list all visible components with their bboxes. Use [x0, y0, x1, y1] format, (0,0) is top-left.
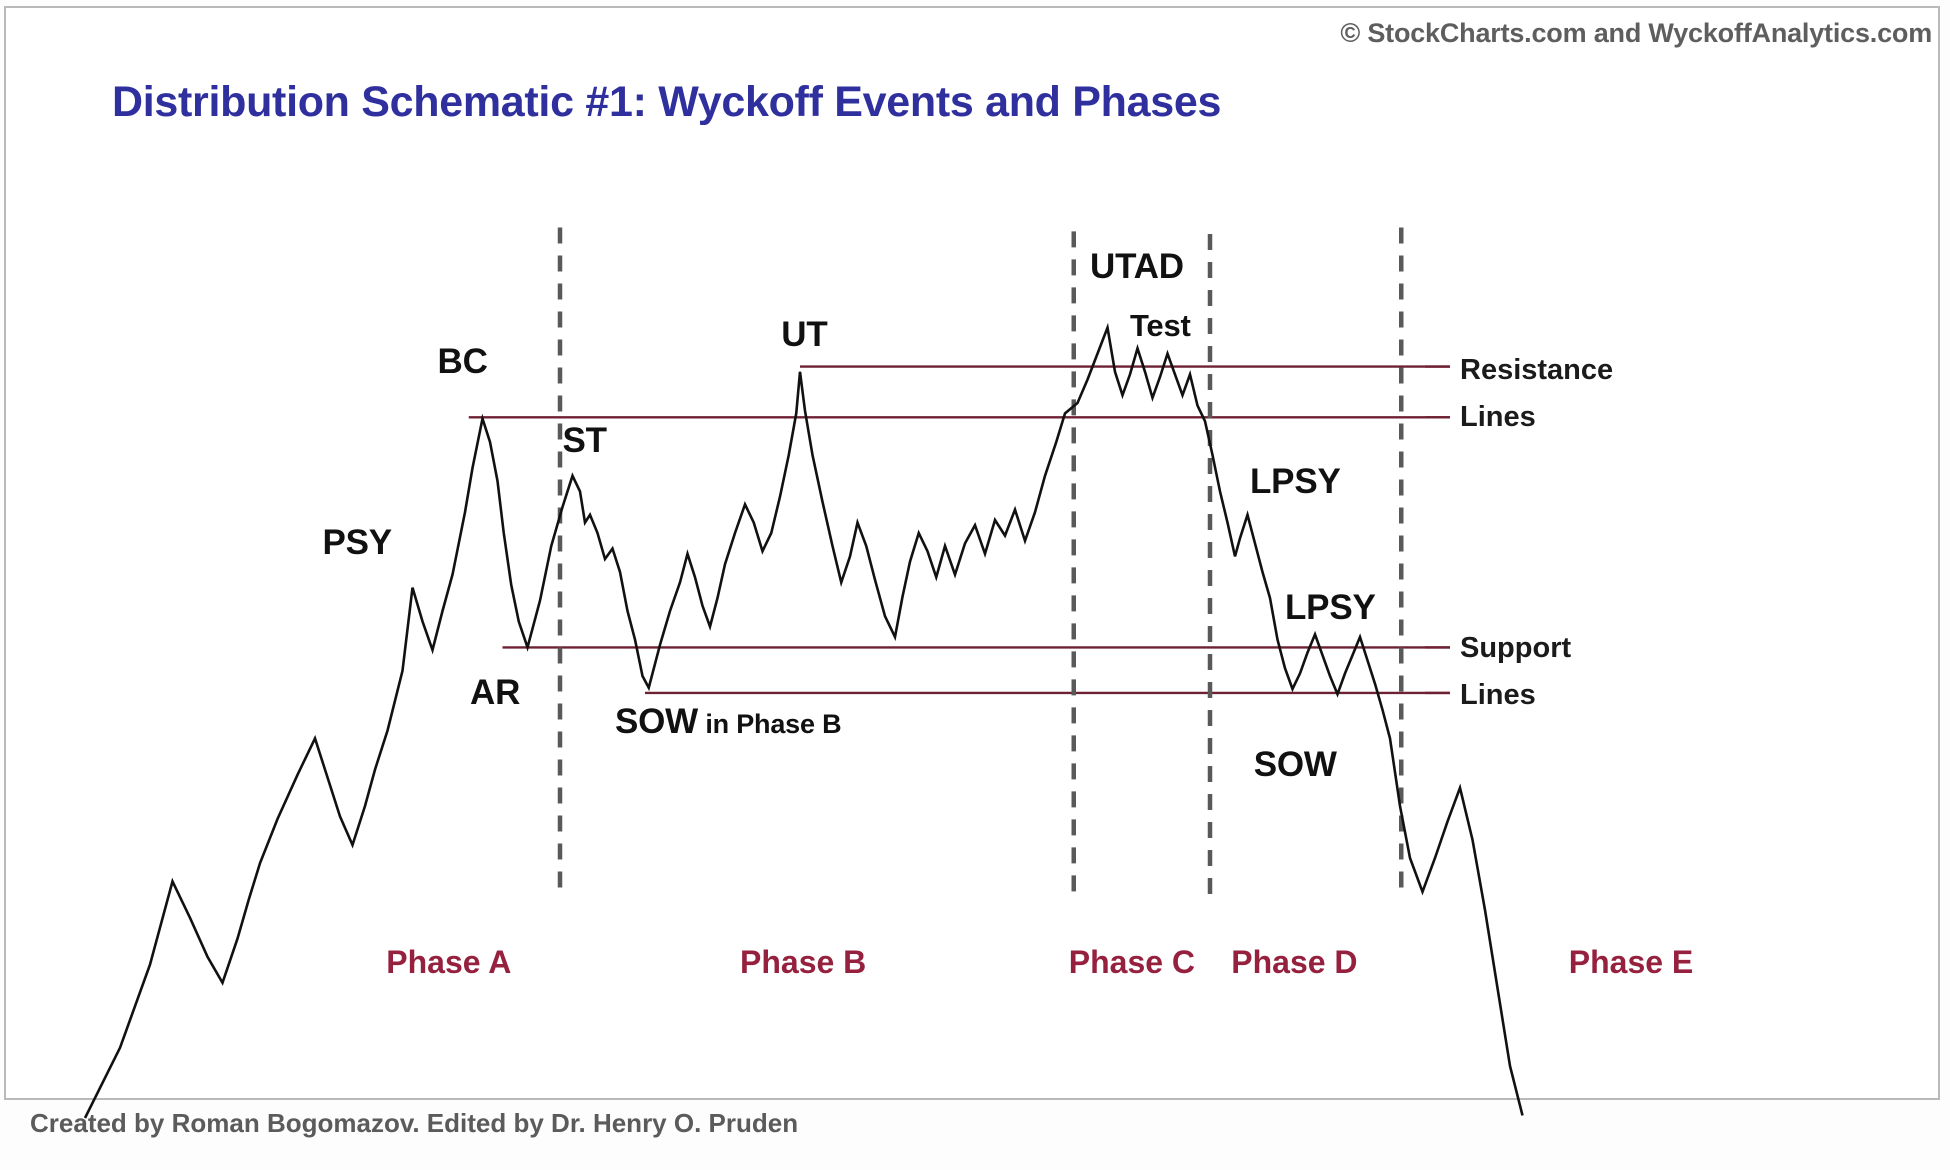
event-label-lpsy1: LPSY	[1250, 462, 1341, 502]
sow-bold-text: SOW	[615, 702, 698, 741]
wyckoff-distribution-plot	[0, 0, 1950, 1170]
price-boundary-lines	[469, 367, 1450, 693]
event-label-psy: PSY	[323, 523, 392, 563]
event-label-test: Test	[1130, 308, 1191, 344]
phase-label-phase-a: Phase A	[386, 944, 511, 981]
event-label-sow: SOW	[1254, 745, 1337, 785]
author-credit: Created by Roman Bogomazov. Edited by Dr…	[30, 1108, 798, 1139]
line-legend-support-lines: SupportLines	[1460, 632, 1571, 712]
legend-line-2: Lines	[1460, 679, 1571, 712]
event-label-lpsy2: LPSY	[1285, 588, 1376, 628]
legend-line-1: Resistance	[1460, 354, 1613, 387]
sow-normal-text: in Phase B	[698, 709, 841, 739]
phase-label-phase-e: Phase E	[1569, 944, 1694, 981]
event-label-st: ST	[563, 421, 607, 461]
legend-line-1: Support	[1460, 632, 1571, 665]
event-label-ar: AR	[470, 673, 520, 713]
phase-label-phase-d: Phase D	[1231, 944, 1357, 981]
line-legend-resistance-lines: ResistanceLines	[1460, 354, 1613, 434]
phase-label-phase-c: Phase C	[1069, 944, 1195, 981]
legend-tick-marks	[1425, 367, 1450, 693]
schematic-canvas: © StockCharts.com and WyckoffAnalytics.c…	[0, 0, 1950, 1170]
phase-label-phase-b: Phase B	[740, 944, 866, 981]
event-label-bc: BC	[438, 342, 488, 382]
legend-line-2: Lines	[1460, 401, 1613, 434]
event-label-utad: UTAD	[1090, 247, 1184, 287]
sow-in-phase-b-label: SOW in Phase B	[615, 702, 841, 742]
event-label-ut: UT	[781, 315, 827, 355]
